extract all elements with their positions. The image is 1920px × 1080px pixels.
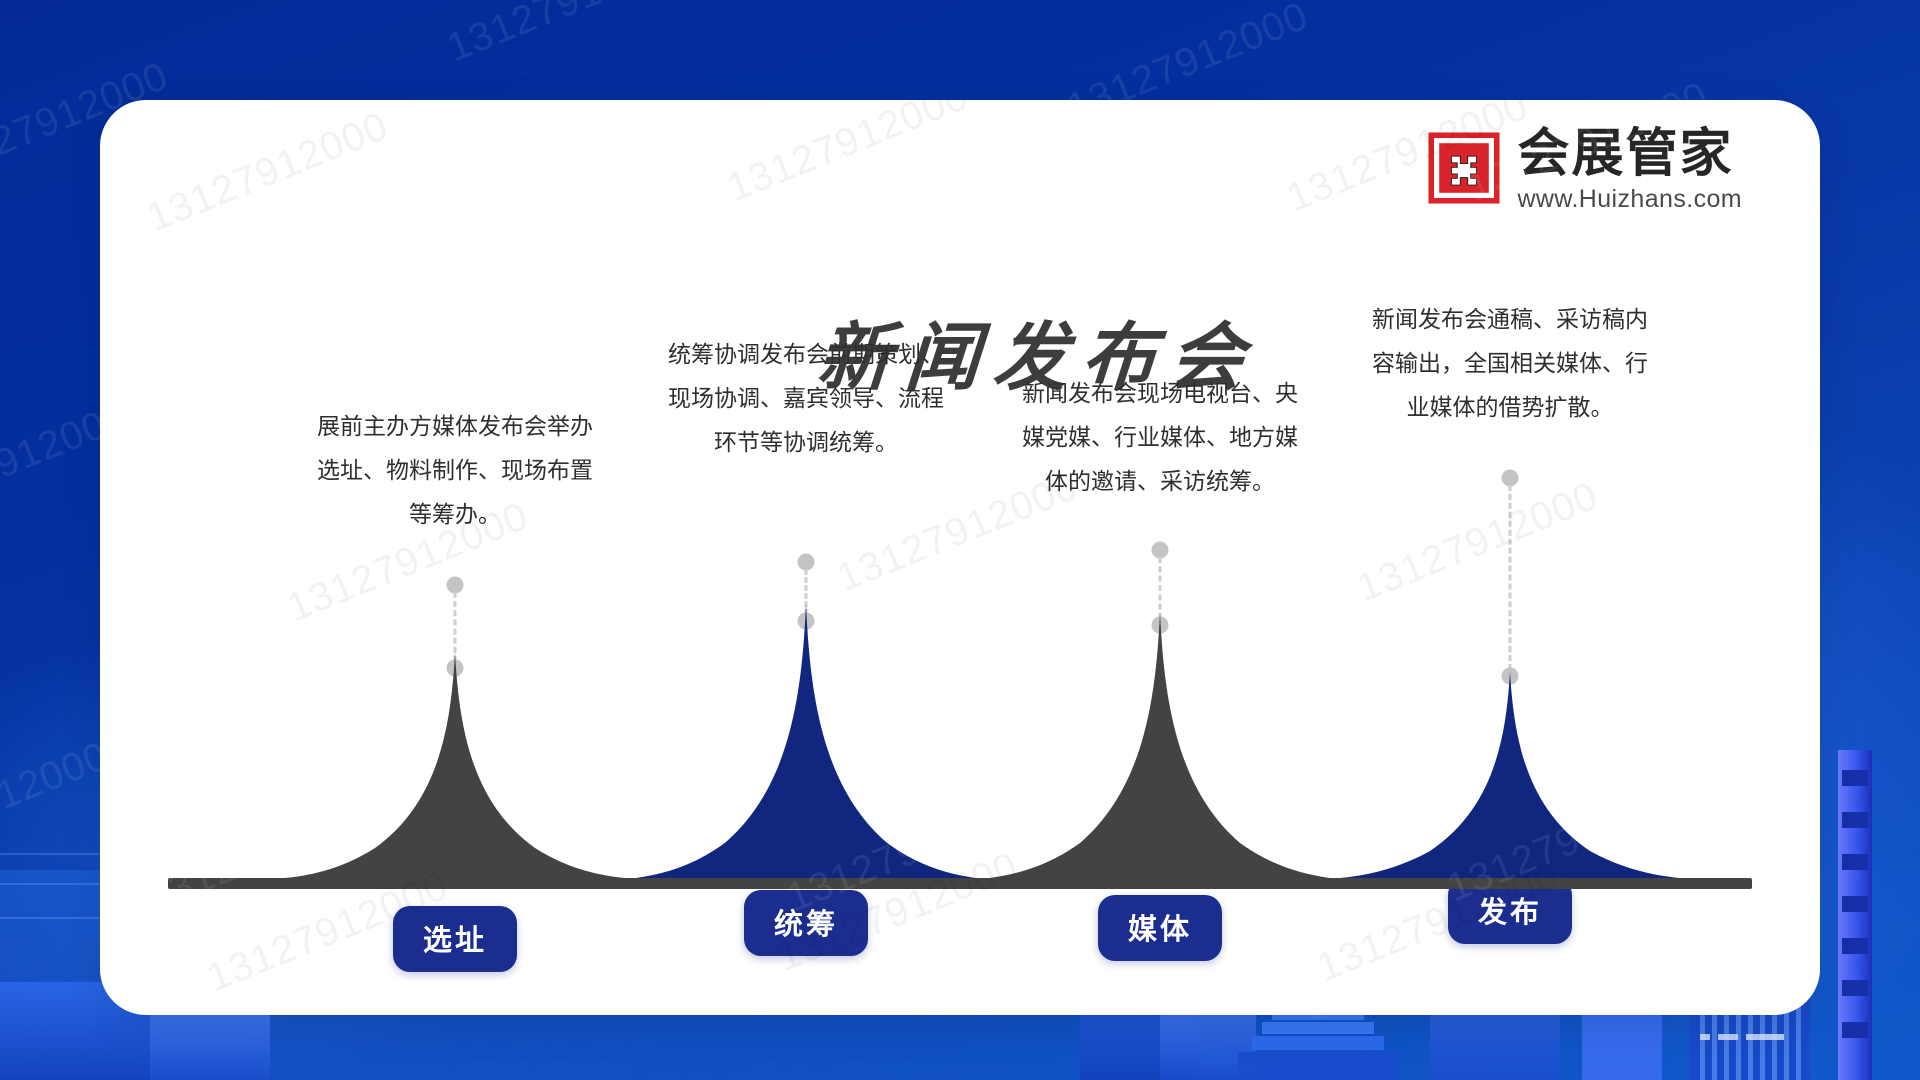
connector-dot-top xyxy=(798,554,815,571)
step-label-badge[interactable]: 选址 xyxy=(393,906,517,972)
watermark-text: 13127912000 xyxy=(0,734,115,872)
step-label-badge[interactable]: 媒体 xyxy=(1098,895,1222,961)
connector-dot-top xyxy=(1502,470,1519,487)
connector-dashed-line xyxy=(1509,485,1512,670)
process-peaks-chart: 展前主办方媒体发布会举办选址、物料制作、现场布置等筹办。 选址 统筹协调发布会前… xyxy=(100,100,1820,1015)
step-description: 新闻发布会通稿、采访稿内容输出，全国相关媒体、行业媒体的借势扩散。 xyxy=(1372,298,1648,430)
chart-baseline xyxy=(168,878,1752,889)
step-description: 展前主办方媒体发布会举办选址、物料制作、现场布置等筹办。 xyxy=(317,405,593,537)
content-card: 13127912000 13127912000 13127912000 1312… xyxy=(100,100,1820,1015)
peak-shape xyxy=(1340,672,1680,878)
connector-dot-top xyxy=(1152,542,1169,559)
slide-canvas: 13127912000 13127912000 13127912000 1312… xyxy=(0,0,1920,1080)
connector-dot-top xyxy=(447,577,464,594)
peak-shape xyxy=(285,652,625,878)
watermark-text: 13127912000 xyxy=(441,0,695,71)
step-label-badge[interactable]: 统筹 xyxy=(744,890,868,956)
peak-shape xyxy=(636,604,976,878)
step-description: 统筹协调发布会前期策划、现场协调、嘉宾领导、流程环节等协调统筹。 xyxy=(668,333,944,465)
step-description: 新闻发布会现场电视台、央媒党媒、行业媒体、地方媒体的邀请、采访统筹。 xyxy=(1022,372,1298,504)
peak-shape xyxy=(990,612,1330,878)
connector-dashed-line xyxy=(1159,557,1162,619)
